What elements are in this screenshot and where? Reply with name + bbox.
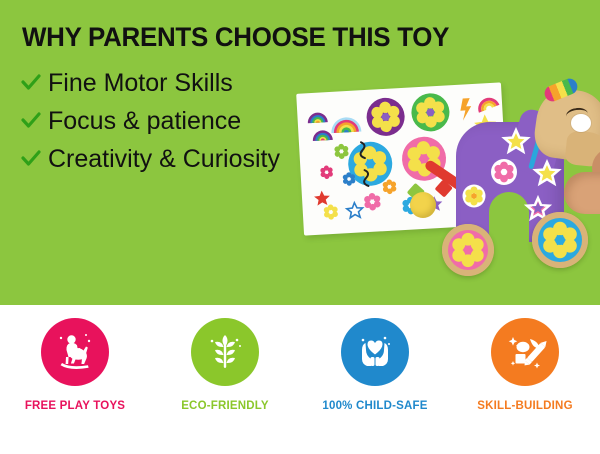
hero-section: WHY PARENTS CHOOSE THIS TOY Fine Motor S… [0,0,600,305]
benefit-label: Focus & patience [48,109,241,134]
badge-circle [341,318,409,386]
badge-circle [41,318,109,386]
trust-badges-bar: FREE PLAY TOYS [0,305,600,454]
benefit-label: Fine Motor Skills [48,71,233,96]
benefits-list: Fine Motor Skills Focus & patience Creat… [20,64,280,178]
benefit-label: Creativity & Curiosity [48,147,280,172]
hands-heart-icon [352,329,398,375]
list-item: Creativity & Curiosity [20,140,280,178]
badge-child-safe: 100% CHILD-SAFE [300,305,450,454]
badge-label: SKILL-BUILDING [477,400,572,412]
check-icon [20,72,42,94]
check-icon [20,110,42,132]
unicorn-pull-toy [416,84,600,299]
check-icon [20,148,42,170]
leaf-branch-icon [202,329,248,375]
badge-eco-friendly: ECO-FRIENDLY [150,305,300,454]
badge-skill-building: SKILL-BUILDING [450,305,600,454]
hand-thumb [564,172,600,214]
page-title: WHY PARENTS CHOOSE THIS TOY [22,24,449,51]
list-item: Focus & patience [20,102,280,140]
badge-circle [191,318,259,386]
promo-banner: WHY PARENTS CHOOSE THIS TOY Fine Motor S… [0,0,600,454]
badge-free-play-toys: FREE PLAY TOYS [0,305,150,454]
badge-label: ECO-FRIENDLY [181,400,269,412]
shapes-pencil-icon [502,329,548,375]
rocking-horse-icon [52,329,98,375]
toy-wheel-front [442,224,494,276]
badge-circle [491,318,559,386]
toy-wheel-rear [532,212,588,268]
list-item: Fine Motor Skills [20,64,280,102]
badge-label: 100% CHILD-SAFE [322,400,427,412]
badge-label: FREE PLAY TOYS [25,400,125,412]
toy-photo [286,78,600,305]
